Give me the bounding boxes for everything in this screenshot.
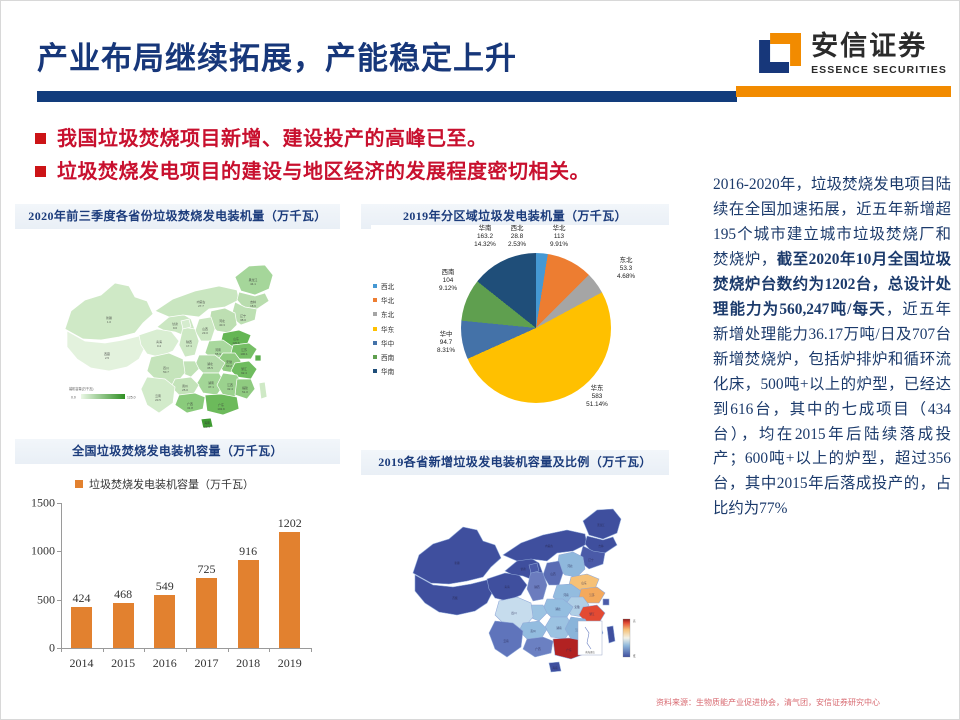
figure-green-map: 装机容量(万千瓦) 0.0 125.0 新疆1.0 西藏2.5 青海0.4 甘肃… xyxy=(23,237,333,433)
map-inset-box: 南海诸岛 xyxy=(578,621,602,655)
bar-2018[interactable] xyxy=(238,560,259,649)
bar-value-2019: 1202 xyxy=(268,516,312,531)
svg-text:内蒙古: 内蒙古 xyxy=(545,544,553,548)
svg-text:南海诸岛: 南海诸岛 xyxy=(585,650,595,654)
svg-text:102.9: 102.9 xyxy=(217,407,225,411)
bar-value-2017: 725 xyxy=(185,562,229,577)
svg-text:17.1: 17.1 xyxy=(186,344,192,348)
svg-text:38.0: 38.0 xyxy=(240,318,246,322)
svg-text:25.0: 25.0 xyxy=(182,388,188,392)
right-commentary-text: 2016-2020年，垃圾焚烧发电项目陆续在全国加速拓展，近五年新增超195个城… xyxy=(713,173,951,522)
svg-text:31.8: 31.8 xyxy=(187,406,193,410)
figure-bar-chart: 垃圾焚烧发电装机容量（万千瓦） 1500 1000 500 0 xyxy=(15,471,340,676)
panel-title-blue-map: 2019各省新增垃圾发电装机容量及比例（万千瓦） xyxy=(361,450,669,475)
pie-label-huazhong: 华中 94.7 8.31% xyxy=(427,331,465,356)
svg-text:37.1: 37.1 xyxy=(208,385,214,389)
pie-label-huabei: 华北 113 9.91% xyxy=(541,225,577,250)
bar-2019[interactable] xyxy=(279,532,300,648)
legend-label: 垃圾焚烧发电装机容量（万千瓦） xyxy=(89,476,254,492)
svg-text:1.0: 1.0 xyxy=(107,320,111,324)
legend-item[interactable]: 西北 xyxy=(373,281,394,291)
svg-text:2.5: 2.5 xyxy=(105,356,109,360)
svg-text:0.4: 0.4 xyxy=(157,344,161,348)
svg-text:51.0: 51.0 xyxy=(242,390,248,394)
logo-orange-shape xyxy=(770,33,801,66)
logo-blue-shape xyxy=(759,40,789,73)
legend-swatch-xibei xyxy=(373,284,377,288)
svg-text:海南: 海南 xyxy=(552,666,558,670)
legend-label: 东北 xyxy=(381,309,394,319)
bar-value-2018: 916 xyxy=(226,544,270,559)
panel-title-bar: 全国垃圾焚烧发电装机容量（万千瓦） xyxy=(15,439,340,464)
svg-text:黑龙江: 黑龙江 xyxy=(597,523,605,527)
svg-text:山东: 山东 xyxy=(581,581,587,585)
svg-text:9.6: 9.6 xyxy=(173,326,177,330)
legend-swatch-huadong xyxy=(373,327,377,331)
logo-name-cn: 安信证券 xyxy=(811,33,927,60)
legend-label: 西北 xyxy=(381,281,394,291)
legend-label: 华中 xyxy=(381,338,394,348)
figure-blue-map: 新疆西藏 青海甘肃 内蒙古黑龙江 吉林辽宁 河北山西 陕西山东 河南江苏 安徽浙… xyxy=(371,481,671,677)
svg-text:山西: 山西 xyxy=(550,572,556,576)
logo-name-en: ESSENCE SECURITIES xyxy=(811,64,947,76)
svg-text:50.7: 50.7 xyxy=(163,370,169,374)
svg-text:广西: 广西 xyxy=(535,647,541,651)
pie-label-dongbei: 东北 53.3 4.68% xyxy=(607,257,645,282)
bullet-text: 垃圾焚烧发电项目的建设与地区经济的发展程度密切相关。 xyxy=(57,158,590,187)
bullet-item: 我国垃圾焚烧项目新增、建设投产的高峰已至。 xyxy=(35,125,590,154)
svg-text:河南: 河南 xyxy=(563,593,569,597)
svg-text:青海: 青海 xyxy=(504,585,510,589)
header-rule-blue xyxy=(37,91,737,102)
legend-label: 华北 xyxy=(381,295,394,305)
y-tick-label: 1000 xyxy=(31,544,55,559)
pie-label-xinan: 西南 104 9.12% xyxy=(429,269,467,294)
company-logo: 安信证券 ESSENCE SECURITIES xyxy=(759,27,947,81)
bar-value-2014: 424 xyxy=(60,591,104,606)
svg-text:125.0: 125.0 xyxy=(127,396,136,400)
legend-swatch-dongbei xyxy=(373,312,377,316)
svg-text:55.9: 55.9 xyxy=(215,352,221,356)
svg-text:18.6: 18.6 xyxy=(250,304,256,308)
svg-text:甘肃: 甘肃 xyxy=(520,567,526,571)
bar-2015[interactable] xyxy=(113,603,134,648)
legend-label: 西南 xyxy=(381,352,394,362)
china-map-diverging-choropleth: 新疆西藏 青海甘肃 内蒙古黑龙江 吉林辽宁 河北山西 陕西山东 河南江苏 安徽浙… xyxy=(371,481,671,677)
svg-text:西藏: 西藏 xyxy=(452,596,458,600)
pie-label-huanan: 华南 163.2 14.32% xyxy=(465,225,505,250)
y-tick-label: 500 xyxy=(37,592,55,607)
svg-text:92.4: 92.4 xyxy=(241,371,247,375)
svg-text:陕西: 陕西 xyxy=(534,585,540,589)
svg-text:广东: 广东 xyxy=(566,648,572,652)
svg-text:新疆: 新疆 xyxy=(454,561,460,565)
bullet-text: 我国垃圾焚烧项目新增、建设投产的高峰已至。 xyxy=(57,125,488,154)
svg-text:低: 低 xyxy=(633,654,636,658)
svg-text:浙江: 浙江 xyxy=(589,612,595,616)
legend-swatch-huazhong xyxy=(373,341,377,345)
x-tick-label: 2016 xyxy=(143,656,187,671)
commentary-segment-3: ，近五年新增处理能力36.17万吨/日及707台新增焚烧炉，包括炉排炉和循环流化… xyxy=(713,301,951,518)
y-tick-label: 0 xyxy=(49,641,55,656)
y-axis xyxy=(61,503,62,648)
svg-text:辽宁: 辽宁 xyxy=(588,558,594,562)
svg-text:安徽: 安徽 xyxy=(574,605,580,609)
pie-label-huadong: 华东 583 51.14% xyxy=(577,385,617,410)
legend-swatch-capacity xyxy=(75,480,83,488)
y-tick-label: 1500 xyxy=(31,496,55,511)
legend-item[interactable]: 华中 xyxy=(373,338,394,348)
x-tick-label: 2019 xyxy=(268,656,312,671)
svg-text:吉林: 吉林 xyxy=(598,544,604,548)
bar-2016[interactable] xyxy=(154,595,175,648)
bar-2017[interactable] xyxy=(196,578,217,648)
china-map-green-choropleth: 装机容量(万千瓦) 0.0 125.0 新疆1.0 西藏2.5 青海0.4 甘肃… xyxy=(23,237,333,433)
legend-label: 华南 xyxy=(381,366,394,376)
legend-item[interactable]: 西南 xyxy=(373,352,394,362)
svg-text:四川: 四川 xyxy=(511,611,517,615)
svg-text:44.1: 44.1 xyxy=(250,282,256,286)
slide-canvas: 产业布局继续拓展，产能稳定上升 安信证券 ESSENCE SECURITIES … xyxy=(0,0,960,720)
bullet-square-icon xyxy=(35,133,46,144)
x-tick-label: 2015 xyxy=(101,656,145,671)
legend-swatch-xinan xyxy=(373,355,377,359)
header-rule-orange xyxy=(736,86,951,97)
bar-plot-area: 1500 1000 500 0 424 468 549 xyxy=(61,503,311,648)
svg-text:23.0: 23.0 xyxy=(202,331,208,335)
page-title: 产业布局继续拓展，产能稳定上升 xyxy=(37,33,517,78)
bar-2014[interactable] xyxy=(71,607,92,648)
legend-label: 华东 xyxy=(381,324,394,334)
pie-chart-graphic xyxy=(461,253,611,403)
svg-text:40.3: 40.3 xyxy=(219,323,225,327)
svg-text:60.2: 60.2 xyxy=(226,364,232,368)
figure-pie-chart: 西北 华北 东北 华东 华中 西南 xyxy=(371,225,671,430)
bar-value-2016: 549 xyxy=(143,579,187,594)
x-tick-label: 2017 xyxy=(185,656,229,671)
logo-text-block: 安信证券 ESSENCE SECURITIES xyxy=(811,33,947,76)
svg-text:100.1: 100.1 xyxy=(240,352,248,356)
legend-item[interactable]: 华南 xyxy=(373,366,394,376)
svg-text:35.5: 35.5 xyxy=(207,366,213,370)
legend-item[interactable]: 华东 xyxy=(373,324,394,334)
svg-text:河北: 河北 xyxy=(567,564,573,568)
source-note: 资料来源：生物质能产业促进协会，清气团，安信证券研究中心 xyxy=(656,697,880,708)
x-tick-label: 2018 xyxy=(226,656,270,671)
x-tick-label: 2014 xyxy=(60,656,104,671)
svg-text:云南: 云南 xyxy=(503,639,509,643)
legend-item[interactable]: 华北 xyxy=(373,295,394,305)
svg-text:27.7: 27.7 xyxy=(198,304,204,308)
svg-text:湖北: 湖北 xyxy=(555,607,561,611)
svg-text:0.0: 0.0 xyxy=(71,396,76,400)
svg-text:装机容量(万千瓦): 装机容量(万千瓦) xyxy=(69,386,93,391)
logo-mark-icon xyxy=(759,33,801,75)
svg-text:高: 高 xyxy=(633,619,636,623)
legend-swatch-huanan xyxy=(373,369,377,373)
pie-legend: 西北 华北 东北 华东 华中 西南 xyxy=(373,281,394,380)
panel-title-green-map: 2020年前三季度各省份垃圾焚烧发电装机量（万千瓦） xyxy=(15,204,340,229)
legend-swatch-huabei xyxy=(373,298,377,302)
svg-text:20.5: 20.5 xyxy=(155,398,161,402)
svg-text:120.6: 120.6 xyxy=(232,341,240,345)
svg-text:10.4: 10.4 xyxy=(204,425,210,429)
bullet-item: 垃圾焚烧发电项目的建设与地区经济的发展程度密切相关。 xyxy=(35,158,590,187)
bullet-square-icon xyxy=(35,166,46,177)
svg-text:湖南: 湖南 xyxy=(556,626,562,630)
bar-value-2015: 468 xyxy=(101,587,145,602)
svg-text:江苏: 江苏 xyxy=(589,593,595,597)
legend-item[interactable]: 东北 xyxy=(373,309,394,319)
svg-text:32.4: 32.4 xyxy=(227,387,233,391)
svg-text:贵州: 贵州 xyxy=(530,629,536,633)
bullet-list: 我国垃圾焚烧项目新增、建设投产的高峰已至。 垃圾焚烧发电项目的建设与地区经济的发… xyxy=(35,125,590,191)
bar-chart-legend: 垃圾焚烧发电装机容量（万千瓦） xyxy=(75,476,254,492)
